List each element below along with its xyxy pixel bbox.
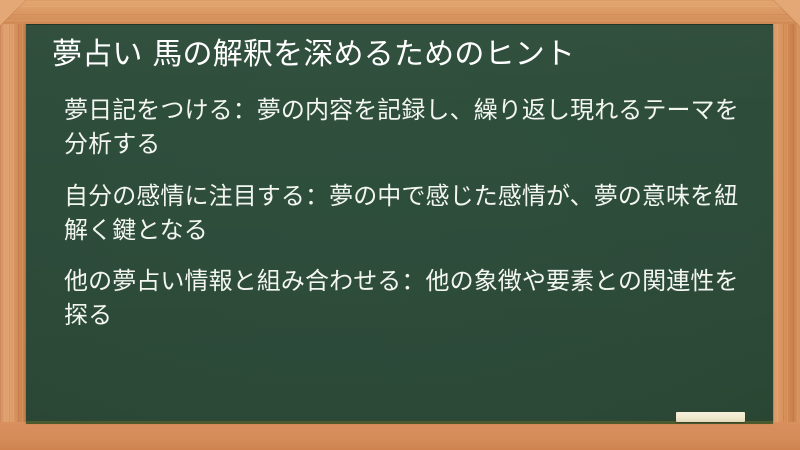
list-item: 他の夢占い情報と組み合わせる：他の象徴や要素との関連性を探る (64, 264, 741, 332)
tips-list: 夢日記をつける：夢の内容を記録し、繰り返し現れるテーマを分析する 自分の感情に注… (42, 93, 751, 331)
frame-miter-top-left (0, 0, 26, 26)
frame-rail-left (0, 0, 26, 450)
frame-rail-right (773, 0, 800, 450)
frame-rail-bottom (0, 422, 800, 450)
frame-miter-top-right (773, 0, 800, 26)
frame-rail-top (0, 0, 800, 24)
list-item: 自分の感情に注目する：夢の中で感じた感情が、夢の意味を紐解く鍵となる (64, 179, 741, 247)
chalkboard-ledge-edge (26, 421, 773, 424)
slide-title: 夢占い 馬の解釈を深めるためのヒント (42, 34, 751, 75)
chalk-stick-icon (676, 412, 745, 422)
chalkboard-slide: 夢占い 馬の解釈を深めるためのヒント 夢日記をつける：夢の内容を記録し、繰り返し… (0, 0, 800, 450)
chalkboard-surface: 夢占い 馬の解釈を深めるためのヒント 夢日記をつける：夢の内容を記録し、繰り返し… (26, 24, 773, 422)
slide-content: 夢占い 馬の解釈を深めるためのヒント 夢日記をつける：夢の内容を記録し、繰り返し… (26, 24, 773, 422)
list-item: 夢日記をつける：夢の内容を記録し、繰り返し現れるテーマを分析する (64, 93, 741, 161)
